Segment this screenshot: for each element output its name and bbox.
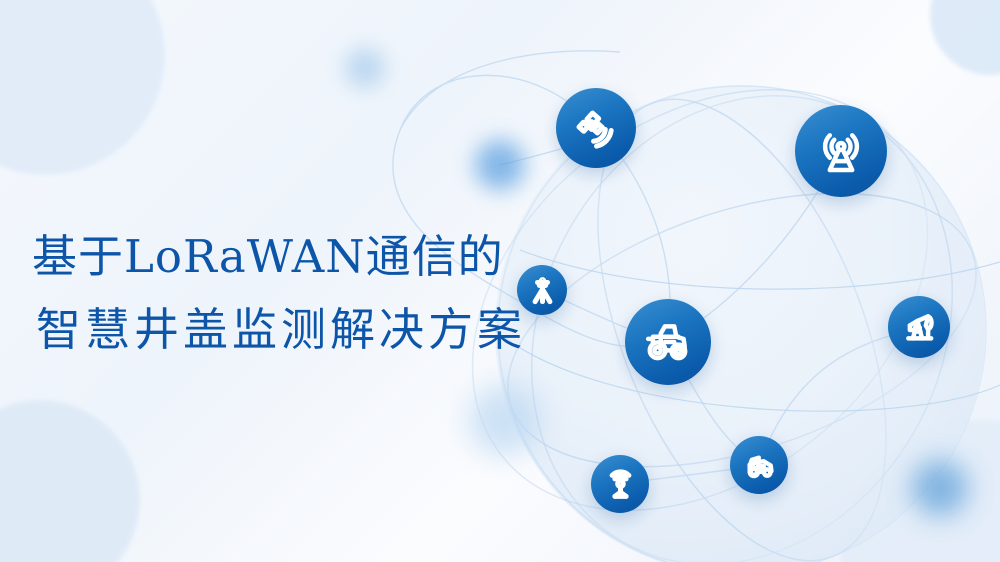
tractor-icon [642,316,694,368]
bokeh-dot-4 [912,460,968,516]
bokeh-dot-1 [475,140,525,190]
harvester-icon [742,448,777,483]
title-line-1: 基于LoRaWAN通信的 [32,228,572,285]
node-oil-pump[interactable] [888,296,950,358]
node-sensor-signal[interactable] [591,455,649,513]
slide-canvas: 基于LoRaWAN通信的 智慧井盖监测解决方案 [0,0,1000,562]
bokeh-dot-3 [469,384,541,456]
node-tractor[interactable] [625,299,711,385]
oil-pump-icon [900,308,938,346]
title-line-2: 智慧井盖监测解决方案 [32,301,572,358]
node-harvester[interactable] [730,436,788,494]
satellite-icon [572,104,621,153]
node-satellite[interactable] [556,88,636,168]
bokeh-dot-2 [345,48,385,88]
sensor-signal-icon [603,467,638,502]
title-block: 基于LoRaWAN通信的 智慧井盖监测解决方案 [32,228,572,358]
radio-tower-icon [813,123,869,179]
node-radio-tower[interactable] [795,105,887,197]
